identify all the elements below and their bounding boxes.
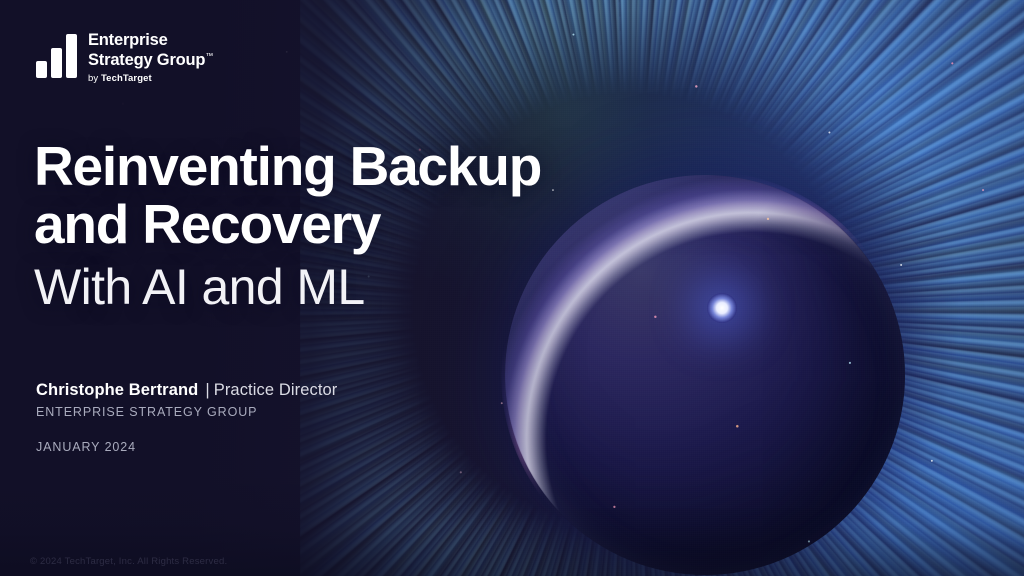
presentation-title-slide: Enterprise Strategy Group™ by TechTarget… [0, 0, 1024, 576]
logo-byline-prefix: by [88, 73, 101, 84]
author-role: |Practice Director [205, 381, 337, 400]
byline-separator: | [205, 381, 209, 399]
page-subtitle: With AI and ML [34, 260, 674, 315]
byline-block: Christophe Bertrand |Practice Director E… [36, 381, 337, 454]
bar-chart-icon [36, 31, 77, 78]
publication-date: JANUARY 2024 [36, 440, 337, 454]
author-role-text: Practice Director [214, 381, 338, 399]
title-block: Reinventing Backup and Recovery With AI … [34, 137, 674, 315]
logo-line-1: Enterprise [88, 32, 213, 49]
slide-content: Enterprise Strategy Group™ by TechTarget… [0, 0, 1024, 576]
logo-line-2-text: Strategy Group [88, 51, 205, 69]
title-line-1: Reinventing Backup [34, 135, 541, 197]
copyright-notice: © 2024 TechTarget, Inc. All Rights Reser… [30, 556, 227, 567]
logo-wordmark: Enterprise Strategy Group™ by TechTarget [88, 31, 213, 84]
logo-byline-brand: TechTarget [101, 73, 152, 84]
page-title: Reinventing Backup and Recovery [34, 137, 674, 254]
logo-byline: by TechTarget [88, 74, 213, 84]
title-line-2: and Recovery [34, 193, 380, 255]
bar-chart-bar-1 [36, 61, 47, 78]
trademark-symbol: ™ [205, 51, 213, 60]
bar-chart-bar-2 [51, 48, 62, 78]
author-organization: ENTERPRISE STRATEGY GROUP [36, 405, 337, 419]
bar-chart-bar-3 [66, 34, 77, 78]
logo-line-2: Strategy Group™ [88, 52, 213, 69]
esg-logo: Enterprise Strategy Group™ by TechTarget [36, 31, 213, 84]
author-name: Christophe Bertrand [36, 381, 198, 400]
author-row: Christophe Bertrand |Practice Director [36, 381, 337, 400]
